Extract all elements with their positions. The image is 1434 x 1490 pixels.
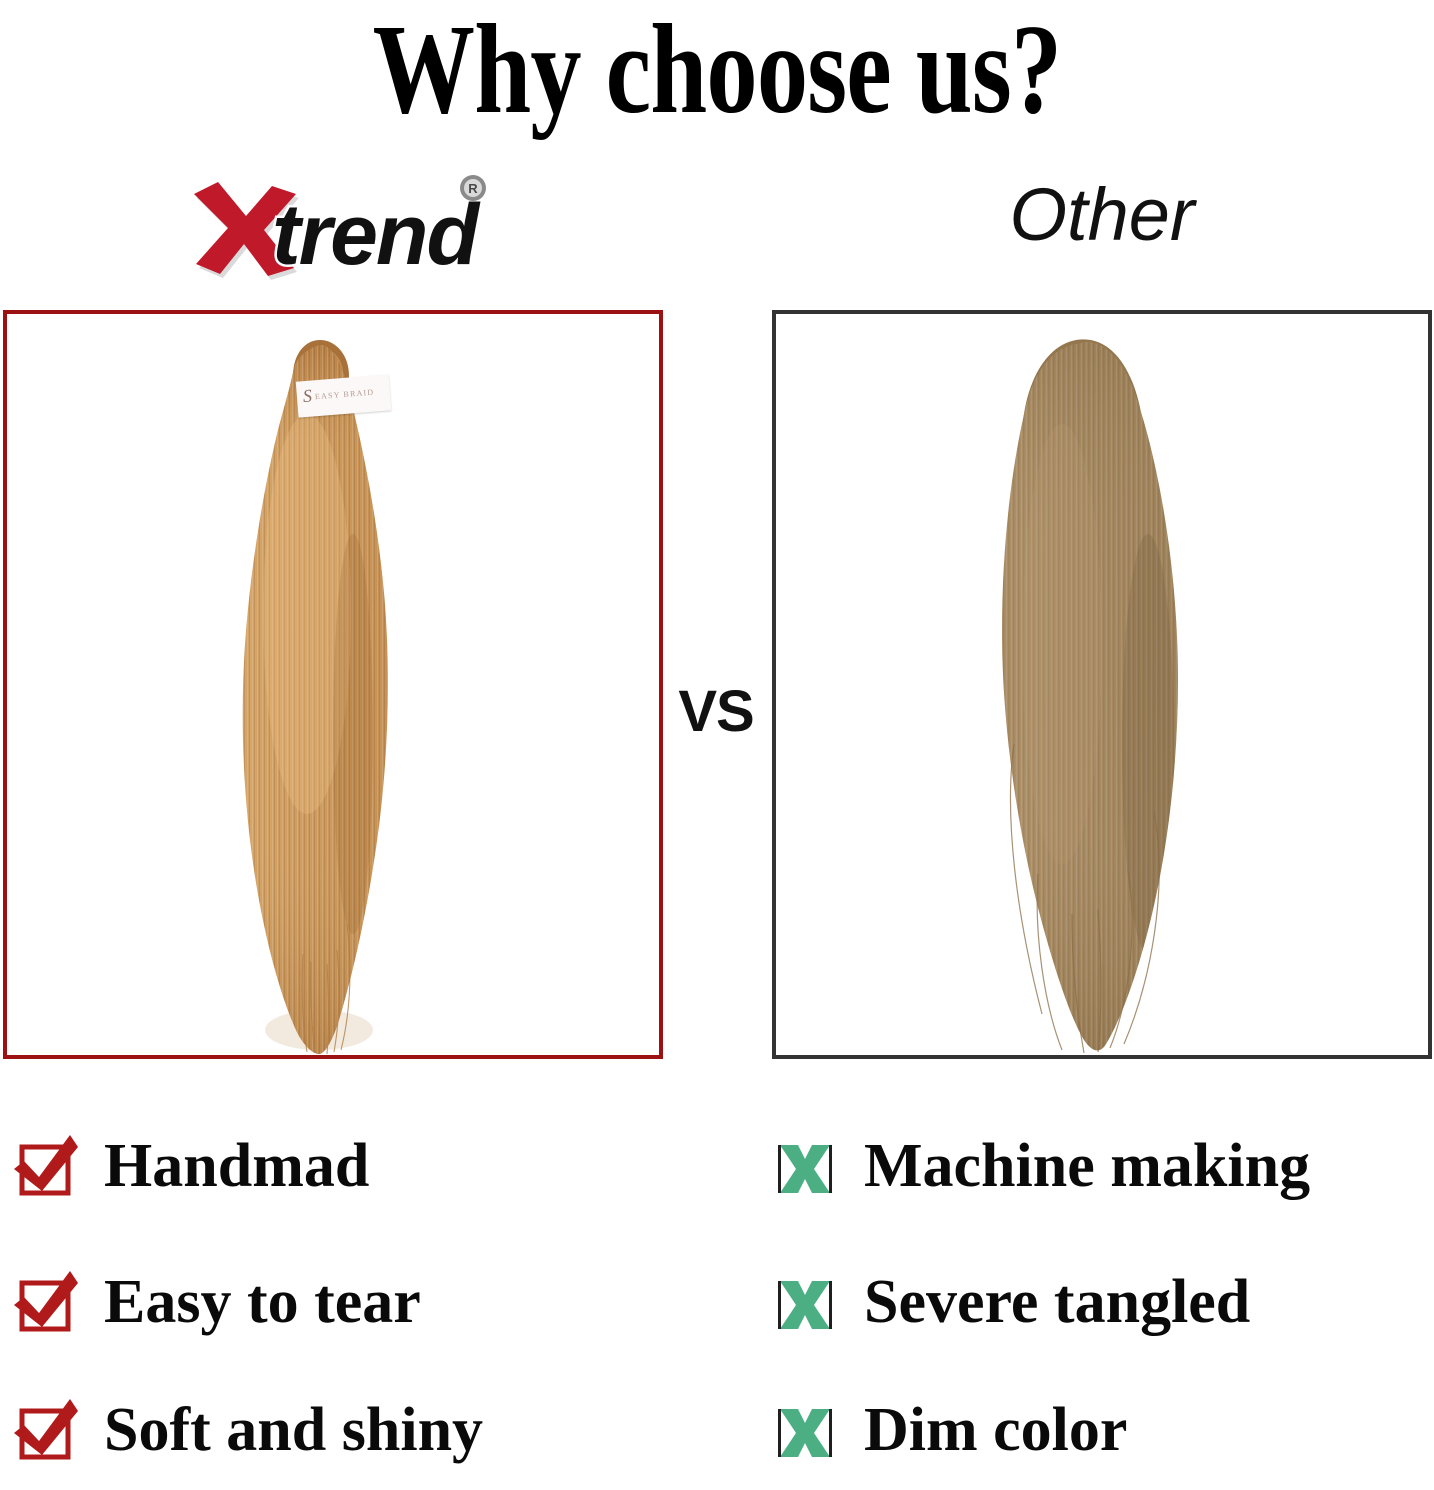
green-x-icon <box>768 1265 842 1339</box>
list-item-label: Soft and shiny <box>104 1399 483 1461</box>
xtrend-logo: trend R <box>176 164 496 284</box>
other-hair-bundle-image <box>776 314 1428 1055</box>
feature-comparison-lists: Handmad Easy to tear Soft and shiny <box>0 1098 1434 1477</box>
red-checkbox-check-icon <box>8 1265 82 1339</box>
svg-text:R: R <box>468 181 478 196</box>
list-item-label: Severe tangled <box>864 1271 1250 1333</box>
list-item-label: Handmad <box>104 1135 369 1197</box>
product-label-text: EASY BRAID <box>315 388 375 402</box>
svg-text:trend: trend <box>272 187 480 283</box>
list-item: Handmad <box>8 1098 708 1234</box>
page-title: Why choose us? <box>143 2 1290 136</box>
our-hair-bundle-image <box>7 314 659 1055</box>
cons-column: Machine making Severe tangled Dim co <box>768 1098 1434 1490</box>
green-x-icon <box>768 1129 842 1203</box>
list-item: Severe tangled <box>768 1234 1434 1370</box>
green-x-icon <box>768 1393 842 1467</box>
list-item: Machine making <box>768 1098 1434 1234</box>
list-item: Easy to tear <box>8 1234 708 1370</box>
other-product-box <box>772 310 1432 1059</box>
brand-row: trend R Other <box>0 160 1434 290</box>
competitor-label: Other <box>772 178 1432 252</box>
list-item: Dim color <box>768 1370 1434 1490</box>
product-paper-label: S EASY BRAID <box>296 374 392 417</box>
list-item: Soft and shiny <box>8 1370 708 1490</box>
vs-divider-label: VS <box>660 683 772 741</box>
list-item-label: Easy to tear <box>104 1271 421 1333</box>
product-label-mark: S <box>302 387 312 406</box>
red-checkbox-check-icon <box>8 1129 82 1203</box>
list-item-label: Machine making <box>864 1135 1310 1197</box>
our-product-box: S EASY BRAID <box>3 310 663 1059</box>
pros-column: Handmad Easy to tear Soft and shiny <box>8 1098 708 1490</box>
red-checkbox-check-icon <box>8 1393 82 1467</box>
list-item-label: Dim color <box>864 1399 1127 1461</box>
